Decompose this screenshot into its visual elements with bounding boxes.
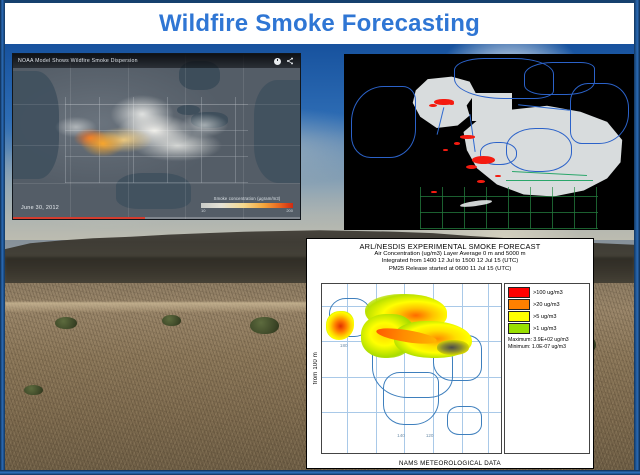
video-colorbar-legend: Smoke concentration (µgram/m3) 10 200 <box>201 196 293 213</box>
shrub <box>24 385 43 395</box>
arl-forecast-map: 180 160 140 120 <box>321 283 502 454</box>
satellite-fire-map-panel[interactable] <box>344 54 634 230</box>
arl-header: ARL/NESDIS EXPERIMENTAL SMOKE FORECAST A… <box>307 239 593 273</box>
video-icon-group[interactable] <box>274 57 294 65</box>
fire-hotspot <box>443 149 448 151</box>
legend-swatch-5 <box>508 311 530 322</box>
legend-label: >100 ug/m3 <box>533 290 563 296</box>
arl-legend: >100 ug/m3 >20 ug/m3 >5 ug/m3 >1 ug/m3 M… <box>504 283 590 454</box>
fire-hotspot <box>449 102 455 105</box>
arl-body: from 100 m 180 160 140 120 <box>310 283 590 454</box>
legend-minimum: Minimum: 1.0E-07 ug/m3 <box>508 344 586 351</box>
fire-hotspot <box>477 180 484 183</box>
title-banner: Wildfire Smoke Forecasting <box>5 3 634 44</box>
frame-bottom <box>0 470 640 475</box>
slide-canvas: Wildfire Smoke Forecasting NOAA Model Sh… <box>0 0 640 475</box>
legend-row: >1 ug/m3 <box>508 323 586 334</box>
share-icon[interactable] <box>286 57 294 65</box>
fire-hotspot <box>460 135 474 138</box>
video-map-frame <box>13 54 300 219</box>
coastline <box>351 86 416 158</box>
legend-swatch-20 <box>508 299 530 310</box>
colorbar-title: Smoke concentration (µgram/m3) <box>201 196 293 201</box>
noaa-video-panel[interactable]: NOAA Model Shows Wildfire Smoke Dispersi… <box>12 53 301 220</box>
legend-row: >100 ug/m3 <box>508 287 586 298</box>
video-progress-bar[interactable] <box>13 217 300 219</box>
legend-row: >5 ug/m3 <box>508 311 586 322</box>
legend-swatch-100 <box>508 287 530 298</box>
colorbar-min-tick: 10 <box>201 208 205 213</box>
legend-row: >20 ug/m3 <box>508 299 586 310</box>
video-title-bar: NOAA Model Shows Wildfire Smoke Dispersi… <box>13 54 300 68</box>
legend-label: >20 ug/m3 <box>533 302 560 308</box>
page-title: Wildfire Smoke Forecasting <box>159 10 480 38</box>
fire-hotspot <box>431 191 436 193</box>
arl-heading: ARL/NESDIS EXPERIMENTAL SMOKE FORECAST <box>307 242 593 251</box>
arl-y-axis-label: from 100 m <box>310 283 321 454</box>
colorbar-ticks: 10 200 <box>201 208 293 213</box>
shrub <box>162 315 181 327</box>
smoke-plume-dark-east <box>437 340 469 355</box>
grid-label: 120 <box>426 433 434 438</box>
colorbar-max-tick: 200 <box>286 208 293 213</box>
legend-label: >5 ug/m3 <box>533 314 556 320</box>
frame-right <box>634 0 640 475</box>
arl-subline-1: Air Concentration (ug/m3) Layer Average … <box>307 251 593 258</box>
fire-hotspot-cluster <box>472 156 495 164</box>
grid-label: 180 <box>340 343 348 348</box>
grid-line <box>488 284 489 453</box>
us-state-grid <box>420 187 599 229</box>
baffin-coastline <box>570 83 630 144</box>
legend-label: >1 ug/m3 <box>533 326 556 332</box>
arl-footer: NAMS METEOROLOGICAL DATA <box>307 460 593 467</box>
modeled-smoke-plume <box>47 94 254 186</box>
watch-later-icon[interactable] <box>274 58 281 65</box>
arl-subline-2: Integrated from 1400 12 Jul to 1500 12 J… <box>307 258 593 265</box>
fire-hotspot <box>454 142 460 145</box>
legend-swatch-1 <box>508 323 530 334</box>
arl-y-axis-text: from 100 m <box>313 352 319 384</box>
mexico-outline <box>383 372 439 425</box>
legend-maximum: Maximum: 3.9E+02 ug/m3 <box>508 337 586 344</box>
video-date-label: June 30, 2012 <box>21 205 59 211</box>
caribbean-outline <box>447 406 481 435</box>
colorbar-gradient <box>201 203 293 208</box>
border-line <box>506 180 592 181</box>
atlantic-ocean <box>254 80 301 182</box>
video-title: NOAA Model Shows Wildfire Smoke Dispersi… <box>18 58 138 64</box>
fire-hotspot <box>466 165 478 169</box>
arl-smoke-forecast-panel[interactable]: ARL/NESDIS EXPERIMENTAL SMOKE FORECAST A… <box>306 238 594 469</box>
arl-subline-3: PM25 Release started at 0600 11 Jul 15 (… <box>307 266 593 273</box>
grid-label: 140 <box>397 433 405 438</box>
shrub <box>250 317 278 334</box>
